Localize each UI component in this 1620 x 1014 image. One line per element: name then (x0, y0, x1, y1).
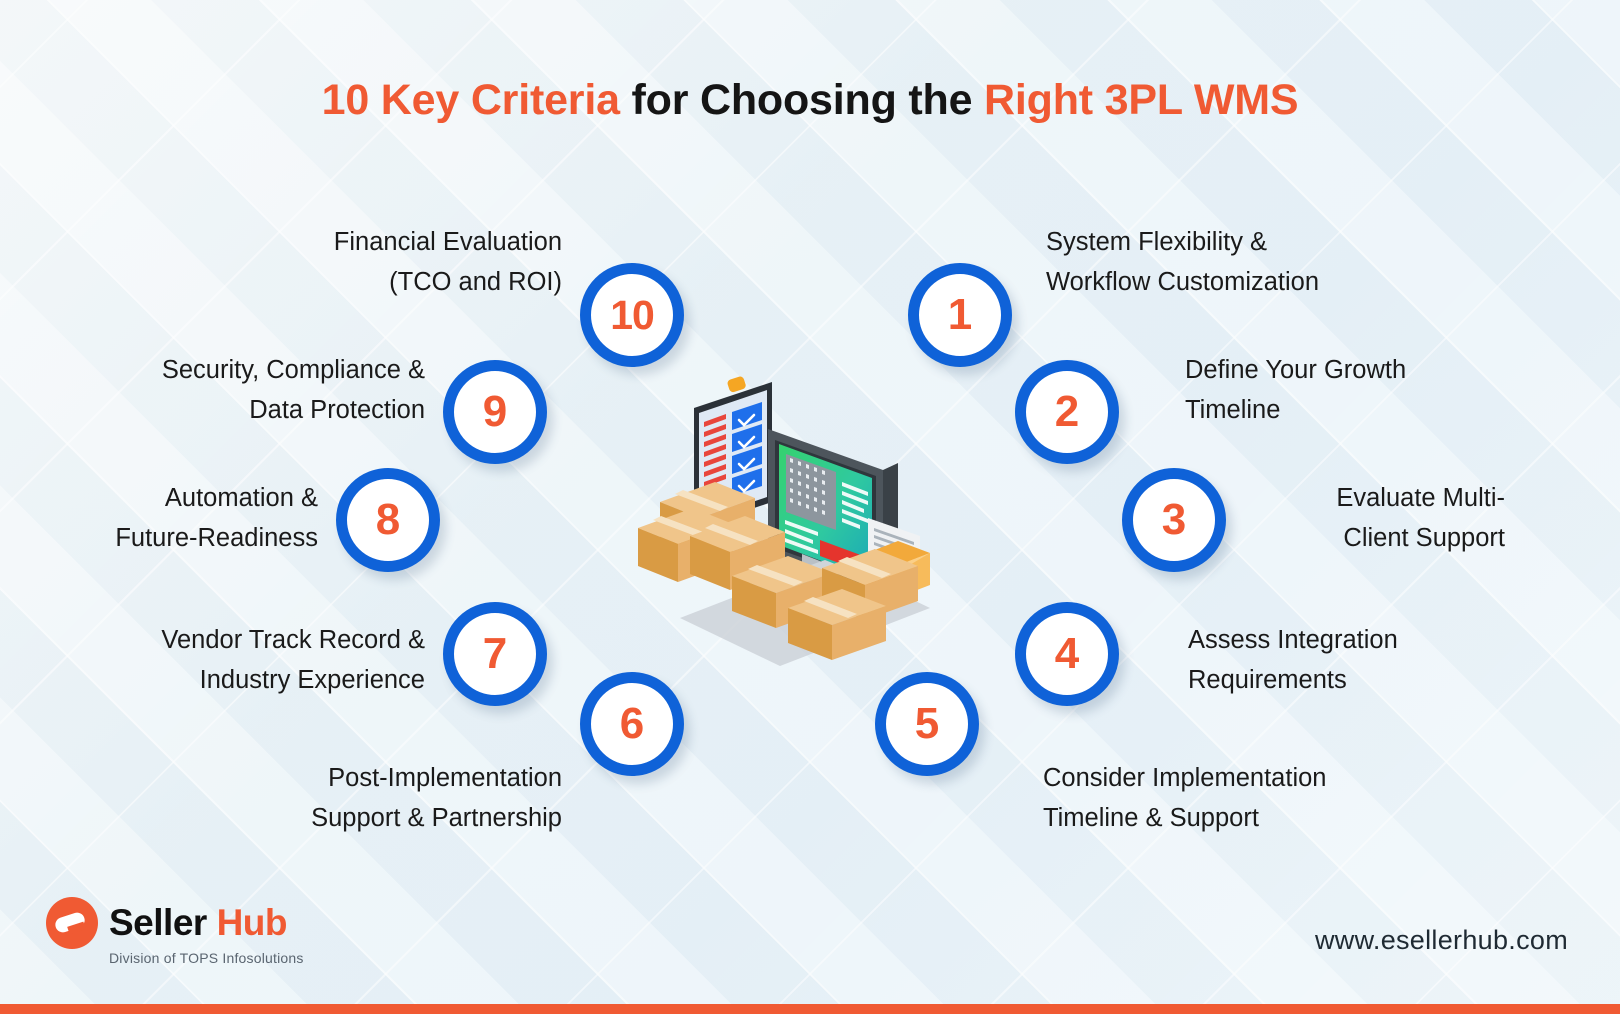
criteria-label-6-line2: Support & Partnership (100, 798, 562, 838)
criteria-label-2: Define Your Growth Timeline (1185, 350, 1406, 430)
criteria-label-5-line2: Timeline & Support (1043, 798, 1326, 838)
criteria-label-2-line1: Define Your Growth (1185, 350, 1406, 390)
criteria-circle-9[interactable]: 9 (443, 360, 547, 464)
logo-tagline: Division of TOPS Infosolutions (109, 950, 304, 966)
criteria-label-9: Security, Compliance & Data Protection (0, 350, 425, 430)
criteria-circle-10[interactable]: 10 (580, 263, 684, 367)
criteria-label-6-line1: Post-Implementation (100, 758, 562, 798)
criteria-label-7: Vendor Track Record & Industry Experienc… (0, 620, 425, 700)
criteria-label-4-line2: Requirements (1188, 660, 1398, 700)
esellerhub-e-icon (46, 897, 98, 949)
criteria-circle-1[interactable]: 1 (908, 263, 1012, 367)
criteria-label-3-line1: Evaluate Multi- (1000, 478, 1505, 518)
criteria-label-10-line2: (TCO and ROI) (100, 262, 562, 302)
criteria-circle-6[interactable]: 6 (580, 672, 684, 776)
logo-word-hub: Hub (207, 902, 287, 943)
page-title: 10 Key Criteria for Choosing the Right 3… (0, 76, 1620, 125)
infographic-canvas: 10 Key Criteria for Choosing the Right 3… (0, 0, 1620, 1014)
criteria-label-1-line2: Workflow Customization (1046, 262, 1319, 302)
criteria-label-7-line1: Vendor Track Record & (0, 620, 425, 660)
website-url[interactable]: www.esellerhub.com (1315, 925, 1568, 956)
criteria-label-6: Post-Implementation Support & Partnershi… (100, 758, 562, 838)
criteria-label-5: Consider Implementation Timeline & Suppo… (1043, 758, 1326, 838)
criteria-circle-7[interactable]: 7 (443, 602, 547, 706)
criteria-label-3: Evaluate Multi- Client Support (1000, 478, 1505, 558)
criteria-circle-3[interactable]: 3 (1122, 468, 1226, 572)
warehouse-wms-illustration (620, 370, 960, 680)
criteria-label-2-line2: Timeline (1185, 390, 1406, 430)
criteria-circle-8[interactable]: 8 (336, 468, 440, 572)
title-accent-start: 10 Key Criteria (322, 76, 620, 124)
criteria-label-8: Automation & Future-Readiness (0, 478, 318, 558)
criteria-label-4: Assess Integration Requirements (1188, 620, 1398, 700)
criteria-label-10-line1: Financial Evaluation (100, 222, 562, 262)
criteria-label-4-line1: Assess Integration (1188, 620, 1398, 660)
footer-accent-bar (0, 1004, 1620, 1014)
criteria-label-3-line2: Client Support (1000, 518, 1505, 558)
criteria-circle-5[interactable]: 5 (875, 672, 979, 776)
criteria-circle-4[interactable]: 4 (1015, 602, 1119, 706)
criteria-label-5-line1: Consider Implementation (1043, 758, 1326, 798)
criteria-label-8-line1: Automation & (0, 478, 318, 518)
criteria-label-8-line2: Future-Readiness (0, 518, 318, 558)
title-accent-end: Right 3PL WMS (984, 76, 1298, 124)
logo-word-seller: Seller (109, 902, 207, 943)
criteria-label-1-line1: System Flexibility & (1046, 222, 1319, 262)
brand-logo: Seller Hub Division of TOPS Infosolution… (46, 897, 304, 966)
criteria-label-7-line2: Industry Experience (0, 660, 425, 700)
criteria-label-9-line1: Security, Compliance & (0, 350, 425, 390)
criteria-label-10: Financial Evaluation (TCO and ROI) (100, 222, 562, 302)
logo-wordmark: Seller Hub (109, 902, 287, 944)
criteria-label-1: System Flexibility & Workflow Customizat… (1046, 222, 1319, 302)
criteria-label-9-line2: Data Protection (0, 390, 425, 430)
title-middle: for Choosing the (620, 76, 984, 124)
criteria-circle-2[interactable]: 2 (1015, 360, 1119, 464)
